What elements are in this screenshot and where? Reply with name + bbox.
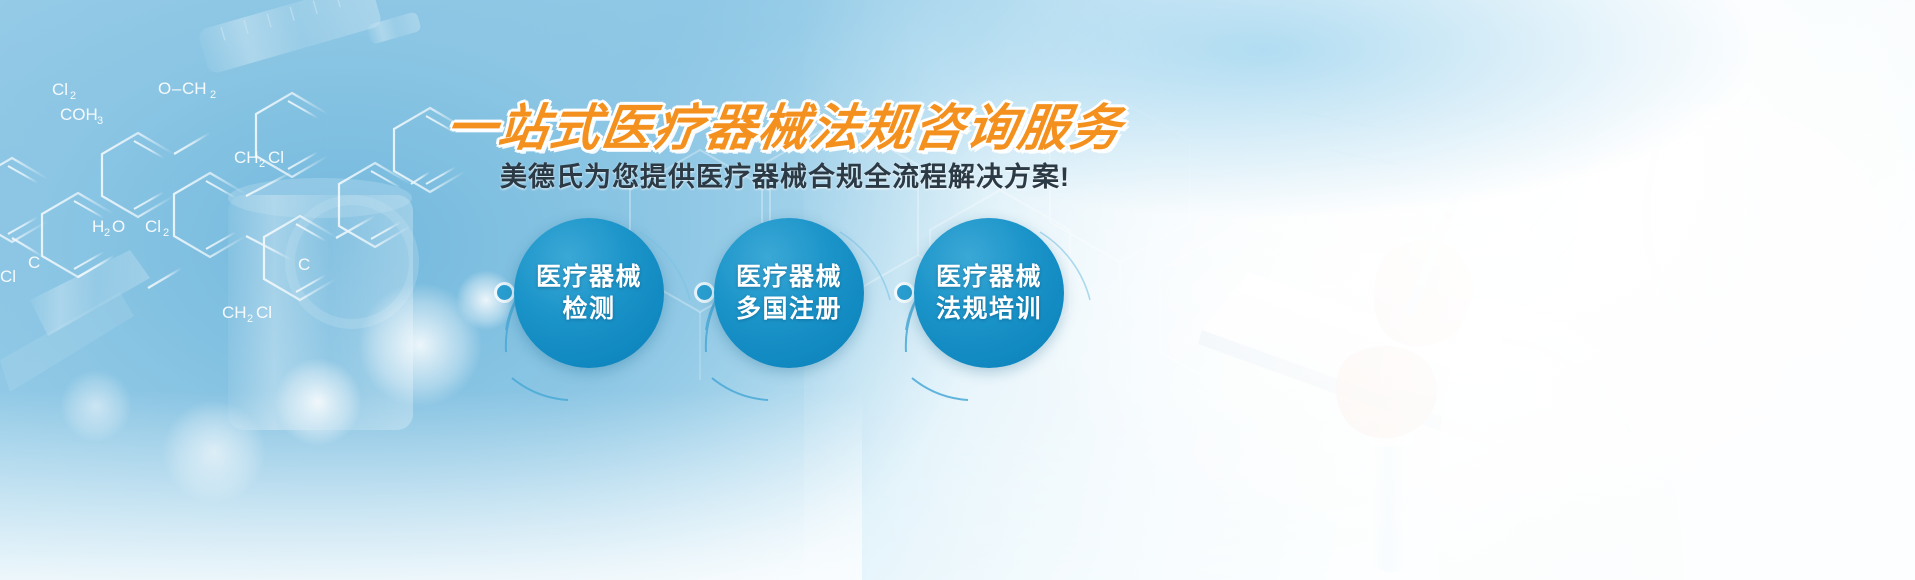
service-circles-group: 医疗器械 检测 医疗器械 多国注册 医疗器械 法规培训 [0, 0, 1915, 580]
service-circle-line2: 法规培训 [936, 293, 1042, 325]
service-circle-line2: 检测 [562, 293, 615, 325]
service-circle-line1: 医疗器械 [536, 261, 642, 293]
service-circle-inspection[interactable]: 医疗器械 检测 [514, 218, 664, 368]
service-circle-training[interactable]: 医疗器械 法规培训 [914, 218, 1064, 368]
service-circle-registration[interactable]: 医疗器械 多国注册 [714, 218, 864, 368]
service-circle-line2: 多国注册 [736, 293, 842, 325]
service-circle-line1: 医疗器械 [936, 261, 1042, 293]
service-circle-line1: 医疗器械 [736, 261, 842, 293]
promo-banner: Cl2 COH3 O–CH2 CH2Cl H2O Cl2 Cl C CH2Cl … [0, 0, 1915, 580]
